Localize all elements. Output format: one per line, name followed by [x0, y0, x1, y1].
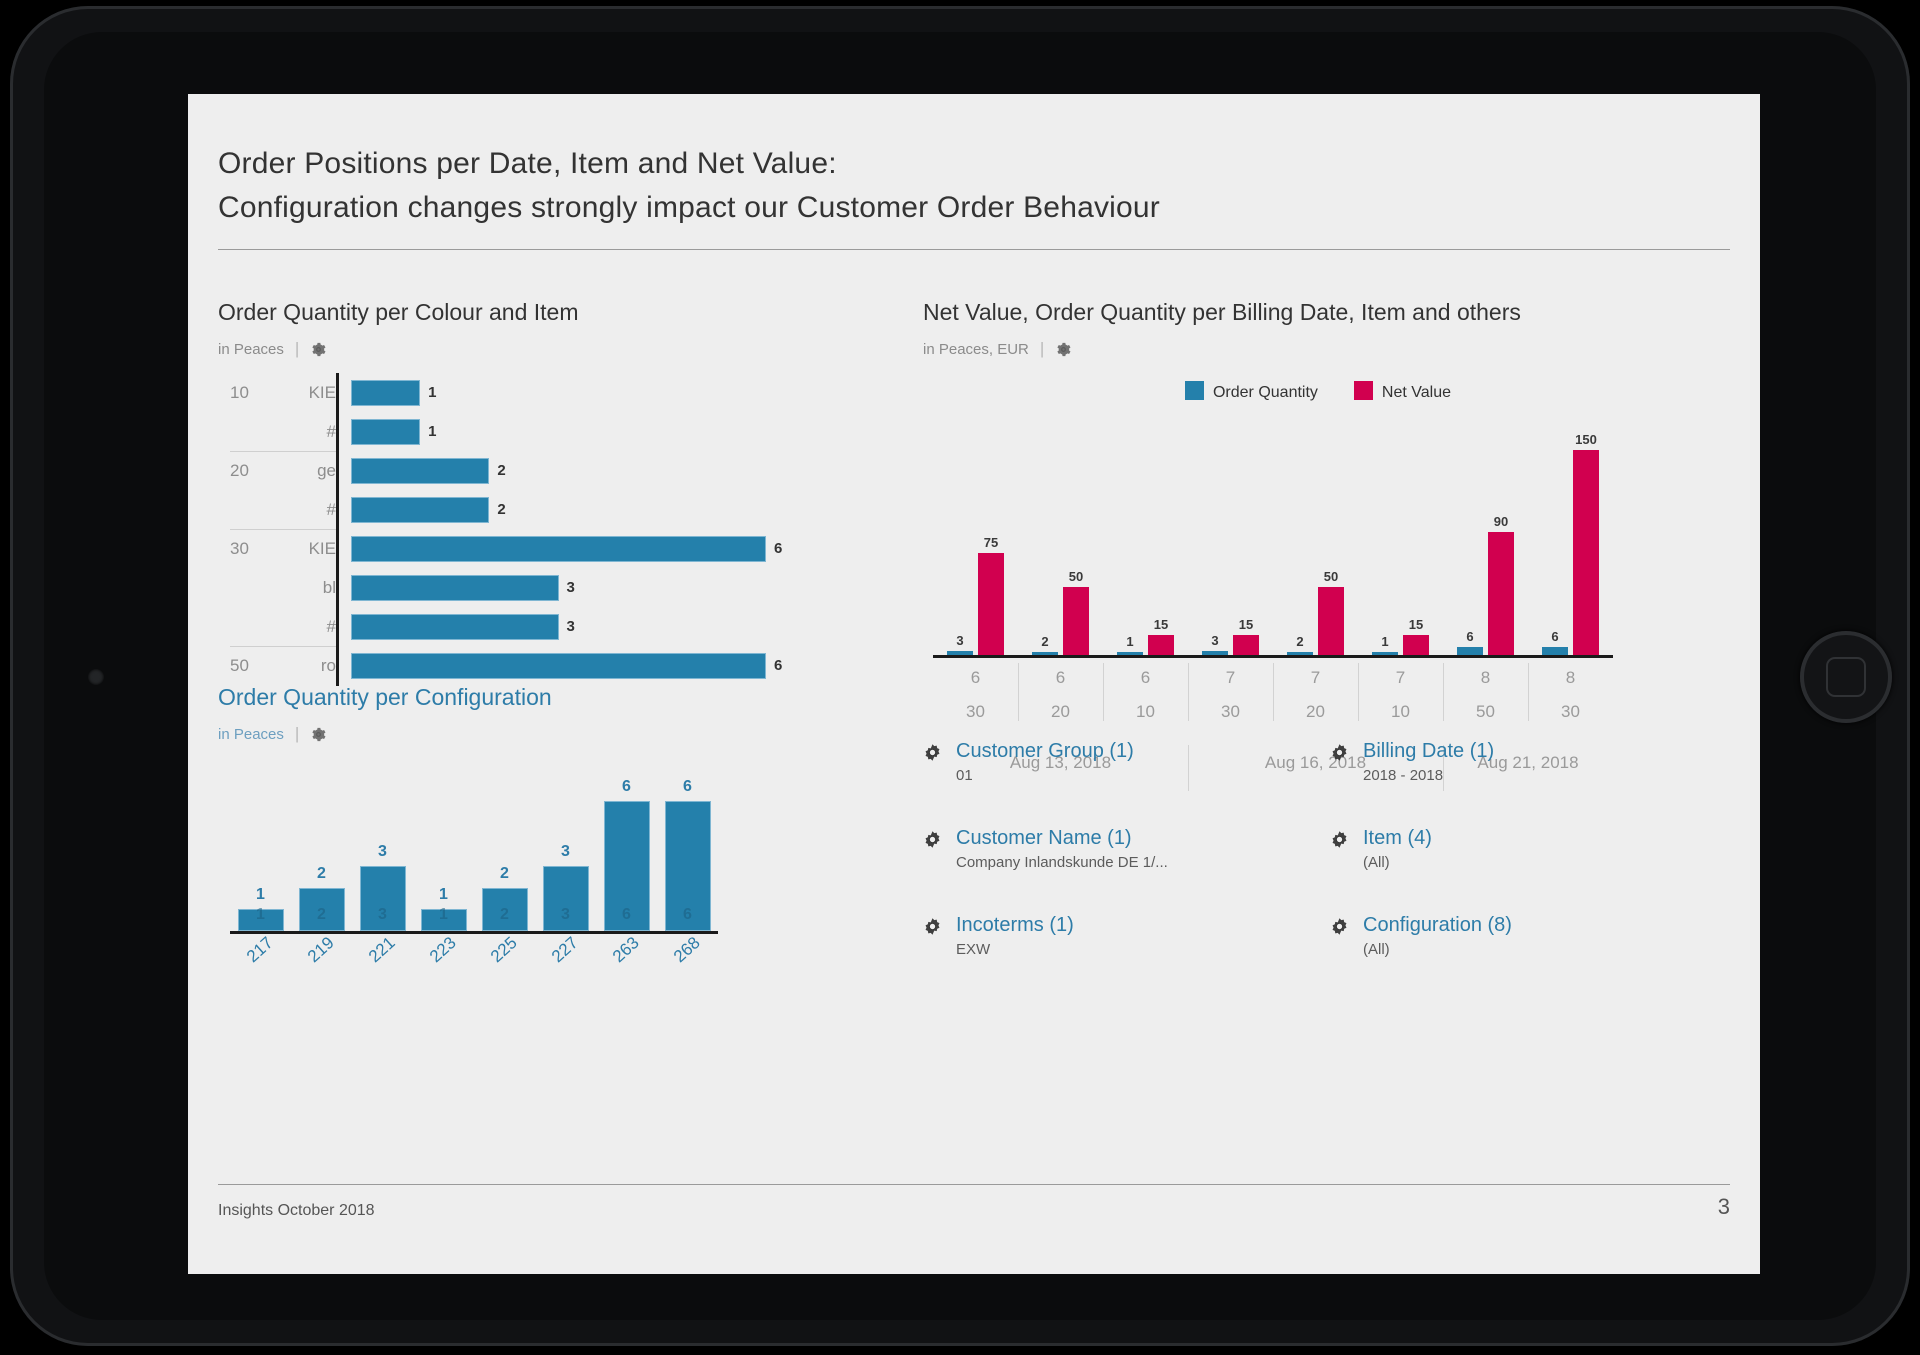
hbar-row[interactable]: 10KIE1 [218, 373, 898, 412]
cbar-value-label: 1 [256, 886, 265, 904]
cbar-value-label: 6 [622, 778, 631, 796]
vbar-item-label: 8 [1528, 661, 1613, 695]
vbar-group: 375 [933, 418, 1018, 655]
cbar-bar-group: 22 [474, 774, 535, 931]
vbar-group: 250 [1018, 418, 1103, 655]
hbar-subheader: in Peaces | [218, 339, 898, 359]
filter-item[interactable]: Customer Group (1)01 [923, 739, 1306, 784]
vbar-net-value-bar[interactable] [978, 553, 1004, 656]
vbar-sub-label: 30 [933, 695, 1018, 729]
cbar-inner-value-label: 6 [605, 906, 649, 924]
vbar-sub-label: 30 [1528, 695, 1613, 729]
chart-order-quantity-per-colour-and-item: Order Quantity per Colour and Item in Pe… [218, 299, 898, 686]
vbar-net-value-bar[interactable] [1233, 635, 1259, 656]
filter-text: Item (4)(All) [1363, 826, 1432, 871]
filter-name[interactable]: Item (4) [1363, 826, 1432, 850]
cbar-bar[interactable]: 1 [238, 909, 284, 931]
hbar-bar[interactable] [351, 653, 766, 679]
cbar-x-tick[interactable]: 219 [291, 940, 352, 960]
cbar-bar[interactable]: 3 [543, 866, 589, 931]
x-tick-divider [1018, 663, 1019, 721]
cbar-x-tick[interactable]: 268 [657, 940, 718, 960]
filter-cog-icon[interactable] [923, 917, 942, 941]
hbar-category-label: # [288, 617, 336, 637]
cbar-value-label: 1 [439, 886, 448, 904]
x-tick-divider [1273, 663, 1274, 721]
chart-order-quantity-per-configuration: Order Quantity per Configuration in Peac… [218, 684, 898, 934]
vbar-net-value-bar[interactable] [1318, 587, 1344, 655]
vbar-bar-wrap: 75 [978, 418, 1004, 655]
hbar-plot-area: 10KIE1#120ge2#230KIE6bl3#350ro6 [218, 373, 898, 686]
hbar-bar-wrap: 1 [351, 412, 898, 451]
vbar-value-label: 15 [1409, 617, 1423, 632]
x-tick-divider [1358, 663, 1359, 721]
vbar-separator: | [1040, 339, 1044, 359]
hbar-bar-wrap: 2 [351, 451, 898, 490]
vbar-value-label: 50 [1324, 569, 1338, 584]
hbar-bar[interactable] [351, 536, 766, 562]
cbar-bar[interactable]: 2 [299, 888, 345, 931]
vbar-net-value-bar[interactable] [1063, 587, 1089, 655]
vbar-net-value-bar[interactable] [1148, 635, 1174, 656]
filter-item[interactable]: Item (4)(All) [1330, 826, 1713, 871]
cbar-x-axis [230, 931, 718, 934]
hbar-bar-wrap: 2 [351, 490, 898, 529]
hbar-row[interactable]: 20ge2 [218, 451, 898, 490]
hbar-category-label: ro [288, 656, 336, 676]
cbar-bar[interactable]: 2 [482, 888, 528, 931]
hbar-value-label: 6 [774, 540, 782, 557]
hbar-bar-wrap: 6 [351, 646, 898, 685]
filter-text: Customer Group (1)01 [956, 739, 1134, 784]
vbar-unit-label: in Peaces, EUR [923, 341, 1029, 358]
footer-divider [218, 1184, 1730, 1185]
vbar-group: 6150 [1528, 418, 1613, 655]
filter-item[interactable]: Billing Date (1)2018 - 2018 [1330, 739, 1713, 784]
filter-item[interactable]: Customer Name (1)Company Inlandskunde DE… [923, 826, 1306, 871]
hbar-value-label: 2 [497, 462, 505, 479]
vbar-net-value-bar[interactable] [1403, 635, 1429, 656]
vbar-bar-groups: 3752501153152501156906150 [933, 418, 1613, 655]
vbar-item-label: 7 [1358, 661, 1443, 695]
hbar-value-label: 1 [428, 423, 436, 440]
vbar-item-label: 7 [1273, 661, 1358, 695]
filter-value: 2018 - 2018 [1363, 767, 1494, 784]
filter-text: Billing Date (1)2018 - 2018 [1363, 739, 1494, 784]
hbar-row[interactable]: 50ro6 [218, 646, 898, 685]
cbar-category-label: 219 [304, 933, 338, 967]
cbar-x-tick[interactable]: 263 [596, 940, 657, 960]
cbar-value-label: 3 [561, 843, 570, 861]
cbar-inner-value-label: 1 [422, 906, 466, 924]
cbar-category-label: 221 [365, 933, 399, 967]
vbar-sub-label: 10 [1103, 695, 1188, 729]
filter-cog-icon[interactable] [1330, 917, 1349, 941]
hbar-value-label: 2 [497, 501, 505, 518]
page-title: Order Positions per Date, Item and Net V… [218, 142, 1728, 230]
filter-value: Company Inlandskunde DE 1/... [956, 854, 1168, 871]
hbar-category-label: # [288, 422, 336, 442]
x-tick-divider [1443, 663, 1444, 721]
cbar-value-label: 3 [378, 843, 387, 861]
vbar-bar-wrap: 15 [1403, 418, 1429, 655]
vbar-value-label: 2 [1296, 634, 1303, 649]
cbar-bar-group: 33 [535, 774, 596, 931]
cbar-inner-value-label: 6 [666, 906, 710, 924]
cbar-category-label: 223 [426, 933, 460, 967]
hbar-separator: | [295, 339, 299, 359]
cbar-bar-group: 11 [413, 774, 474, 931]
vbar-bar-wrap: 15 [1148, 418, 1174, 655]
front-camera-icon [88, 669, 104, 685]
hbar-bar[interactable] [351, 419, 420, 445]
cbar-x-tick[interactable]: 221 [352, 940, 413, 960]
hbar-row[interactable]: 30KIE6 [218, 529, 898, 568]
legend-label: Net Value [1382, 384, 1451, 401]
vbar-bar-wrap: 3 [947, 418, 973, 655]
hbar-bar[interactable] [351, 497, 489, 523]
footer-label: Insights October 2018 [218, 1202, 375, 1220]
cbar-bar-group: 66 [657, 774, 718, 931]
vbar-group: 250 [1273, 418, 1358, 655]
vbar-group: 315 [1188, 418, 1273, 655]
hbar-group-label: 30 [218, 539, 288, 559]
vbar-value-label: 3 [1211, 633, 1218, 648]
vbar-value-label: 2 [1041, 634, 1048, 649]
x-tick-divider [1528, 663, 1529, 721]
hbar-bar[interactable] [351, 380, 420, 406]
cbar-plot-area: 1122331122336666 21721922122322522726326… [218, 774, 898, 934]
vbar-sub-label: 50 [1443, 695, 1528, 729]
cbar-category-label: 225 [487, 933, 521, 967]
hbar-bar-wrap: 6 [351, 529, 898, 568]
vbar-group: 115 [1103, 418, 1188, 655]
vbar-chart-title: Net Value, Order Quantity per Billing Da… [923, 299, 1713, 326]
vbar-subheader: in Peaces, EUR | [923, 339, 1713, 359]
hbar-row[interactable]: #2 [218, 490, 898, 529]
hbar-bar-wrap: 3 [351, 607, 898, 646]
hbar-bar-wrap: 1 [351, 373, 898, 412]
cbar-bar-group: 22 [291, 774, 352, 931]
hbar-bar[interactable] [351, 575, 559, 601]
vbar-plot-area: 3752501153152501156906150 63062061073072… [923, 418, 1713, 658]
cbar-category-label: 263 [609, 933, 643, 967]
vbar-bar-wrap: 1 [1372, 418, 1398, 655]
filter-value: EXW [956, 941, 1074, 958]
cbar-value-label: 2 [500, 865, 509, 883]
cbar-bar-group: 66 [596, 774, 657, 931]
vbar-legend-item[interactable]: Net Value [1354, 381, 1451, 402]
cbar-x-tick[interactable]: 227 [535, 940, 596, 960]
vbar-value-label: 6 [1551, 629, 1558, 644]
vbar-net-value-bar[interactable] [1488, 532, 1514, 655]
cbar-category-label: 217 [243, 933, 277, 967]
vbar-order-quantity-bar[interactable] [1542, 647, 1568, 655]
vbar-item-label: 6 [1103, 661, 1188, 695]
hbar-category-label: KIE [288, 383, 336, 403]
filter-value: (All) [1363, 854, 1432, 871]
vbar-sub-label: 10 [1358, 695, 1443, 729]
cbar-unit-label: in Peaces [218, 726, 284, 743]
cbar-bar-group: 11 [230, 774, 291, 931]
vbar-bar-wrap: 2 [1032, 418, 1058, 655]
filter-panel: Customer Group (1)01Billing Date (1)2018… [923, 739, 1713, 958]
vbar-item-label: 6 [933, 661, 1018, 695]
vbar-legend: Order QuantityNet Value [923, 381, 1713, 402]
vbar-sub-label: 20 [1273, 695, 1358, 729]
cbar-separator: | [295, 724, 299, 744]
hbar-group-label: 10 [218, 383, 288, 403]
filter-name[interactable]: Incoterms (1) [956, 913, 1074, 937]
vbar-x-axis [933, 655, 1613, 658]
cbar-x-tick-labels: 217219221223225227263268 [230, 940, 718, 960]
filter-text: Configuration (8)(All) [1363, 913, 1512, 958]
vbar-item-label: 7 [1188, 661, 1273, 695]
cbar-subheader: in Peaces | [218, 724, 898, 744]
cbar-bar[interactable]: 1 [421, 909, 467, 931]
filter-text: Customer Name (1)Company Inlandskunde DE… [956, 826, 1168, 871]
vbar-bar-wrap: 2 [1287, 418, 1313, 655]
cbar-chart-title[interactable]: Order Quantity per Configuration [218, 684, 898, 711]
vbar-bar-wrap: 150 [1573, 418, 1599, 655]
vbar-bar-wrap: 15 [1233, 418, 1259, 655]
vbar-sub-label: 30 [1188, 695, 1273, 729]
x-tick-divider [1103, 663, 1104, 721]
filter-cog-icon[interactable] [923, 830, 942, 854]
cbar-inner-value-label: 2 [483, 906, 527, 924]
vbar-bar-wrap: 6 [1457, 418, 1483, 655]
vbar-bar-wrap: 50 [1063, 418, 1089, 655]
vbar-value-label: 150 [1575, 432, 1597, 447]
vbar-net-value-bar[interactable] [1573, 450, 1599, 655]
hbar-category-label: KIE [288, 539, 336, 559]
legend-swatch [1185, 381, 1204, 400]
cog-icon[interactable] [1055, 341, 1072, 358]
hbar-group-label: 20 [218, 461, 288, 481]
vbar-value-label: 15 [1154, 617, 1168, 632]
cbar-inner-value-label: 3 [544, 906, 588, 924]
vbar-sub-label: 20 [1018, 695, 1103, 729]
filter-name[interactable]: Customer Group (1) [956, 739, 1134, 763]
chart-net-value-order-quantity-per-billing-date: Net Value, Order Quantity per Billing Da… [923, 299, 1713, 658]
vbar-bar-wrap: 1 [1117, 418, 1143, 655]
hbar-chart-title: Order Quantity per Colour and Item [218, 299, 898, 326]
title-line-2: Configuration changes strongly impact ou… [218, 186, 1728, 230]
hbar-bar[interactable] [351, 614, 559, 640]
hbar-rows: 10KIE1#120ge2#230KIE6bl3#350ro6 [218, 373, 898, 685]
cog-icon[interactable] [310, 726, 327, 743]
legend-label: Order Quantity [1213, 384, 1318, 401]
filter-name[interactable]: Billing Date (1) [1363, 739, 1494, 763]
home-button[interactable] [1800, 631, 1892, 723]
cbar-bar[interactable]: 3 [360, 866, 406, 931]
hbar-value-label: 3 [567, 618, 575, 635]
hbar-row-separator [230, 451, 336, 452]
cbar-x-tick[interactable]: 217 [230, 940, 291, 960]
vbar-bar-wrap: 6 [1542, 418, 1568, 655]
x-tick-divider [1188, 663, 1189, 721]
cog-icon[interactable] [310, 341, 327, 358]
vbar-group: 115 [1358, 418, 1443, 655]
cbar-bar[interactable]: 6 [604, 801, 650, 931]
hbar-category-label: bl [288, 578, 336, 598]
hbar-bar[interactable] [351, 458, 489, 484]
filter-value: 01 [956, 767, 1134, 784]
hbar-row-separator [230, 646, 336, 647]
cbar-value-label: 6 [683, 778, 692, 796]
vbar-bar-wrap: 3 [1202, 418, 1228, 655]
vbar-bar-wrap: 50 [1318, 418, 1344, 655]
filter-item[interactable]: Configuration (8)(All) [1330, 913, 1713, 958]
vbar-value-label: 15 [1239, 617, 1253, 632]
vbar-value-label: 3 [956, 633, 963, 648]
vbar-value-label: 50 [1069, 569, 1083, 584]
hbar-row[interactable]: bl3 [218, 568, 898, 607]
vbar-value-label: 90 [1494, 514, 1508, 529]
cbar-category-label: 227 [548, 933, 582, 967]
vbar-group: 690 [1443, 418, 1528, 655]
hbar-category-label: # [288, 500, 336, 520]
hbar-row[interactable]: #3 [218, 607, 898, 646]
filter-cog-icon[interactable] [1330, 830, 1349, 854]
legend-swatch [1354, 381, 1373, 400]
vbar-value-label: 6 [1466, 629, 1473, 644]
dashboard-slide: Order Positions per Date, Item and Net V… [188, 94, 1760, 1274]
cbar-x-tick[interactable]: 225 [474, 940, 535, 960]
hbar-row[interactable]: #1 [218, 412, 898, 451]
vbar-item-label: 6 [1018, 661, 1103, 695]
hbar-value-label: 3 [567, 579, 575, 596]
filter-item[interactable]: Incoterms (1)EXW [923, 913, 1306, 958]
vbar-bar-wrap: 90 [1488, 418, 1514, 655]
cbar-inner-value-label: 3 [361, 906, 405, 924]
cbar-inner-value-label: 2 [300, 906, 344, 924]
filter-name[interactable]: Customer Name (1) [956, 826, 1168, 850]
filter-cog-icon[interactable] [923, 743, 942, 767]
hbar-row-separator [230, 529, 336, 530]
title-line-1: Order Positions per Date, Item and Net V… [218, 142, 1728, 186]
filter-text: Incoterms (1)EXW [956, 913, 1074, 958]
vbar-value-label: 1 [1126, 634, 1133, 649]
vbar-value-label: 75 [984, 535, 998, 550]
vbar-legend-item[interactable]: Order Quantity [1185, 381, 1318, 402]
cbar-category-label: 268 [670, 933, 704, 967]
filter-cog-icon[interactable] [1330, 743, 1349, 767]
filter-name[interactable]: Configuration (8) [1363, 913, 1512, 937]
cbar-bar[interactable]: 6 [665, 801, 711, 931]
tablet-frame: Order Positions per Date, Item and Net V… [10, 6, 1910, 1346]
cbar-bar-group: 33 [352, 774, 413, 931]
cbar-x-tick[interactable]: 223 [413, 940, 474, 960]
cbar-value-label: 2 [317, 865, 326, 883]
cbar-inner-value-label: 1 [239, 906, 283, 924]
hbar-value-label: 6 [774, 657, 782, 674]
vbar-value-label: 1 [1381, 634, 1388, 649]
vbar-item-label: 8 [1443, 661, 1528, 695]
hbar-group-label: 50 [218, 656, 288, 676]
hbar-unit-label: in Peaces [218, 341, 284, 358]
hbar-category-label: ge [288, 461, 336, 481]
title-divider [218, 249, 1730, 250]
page-number: 3 [1718, 1194, 1730, 1220]
hbar-bar-wrap: 3 [351, 568, 898, 607]
vbar-order-quantity-bar[interactable] [1457, 647, 1483, 655]
filter-value: (All) [1363, 941, 1512, 958]
hbar-value-label: 1 [428, 384, 436, 401]
cbar-bars: 1122331122336666 [230, 774, 718, 931]
